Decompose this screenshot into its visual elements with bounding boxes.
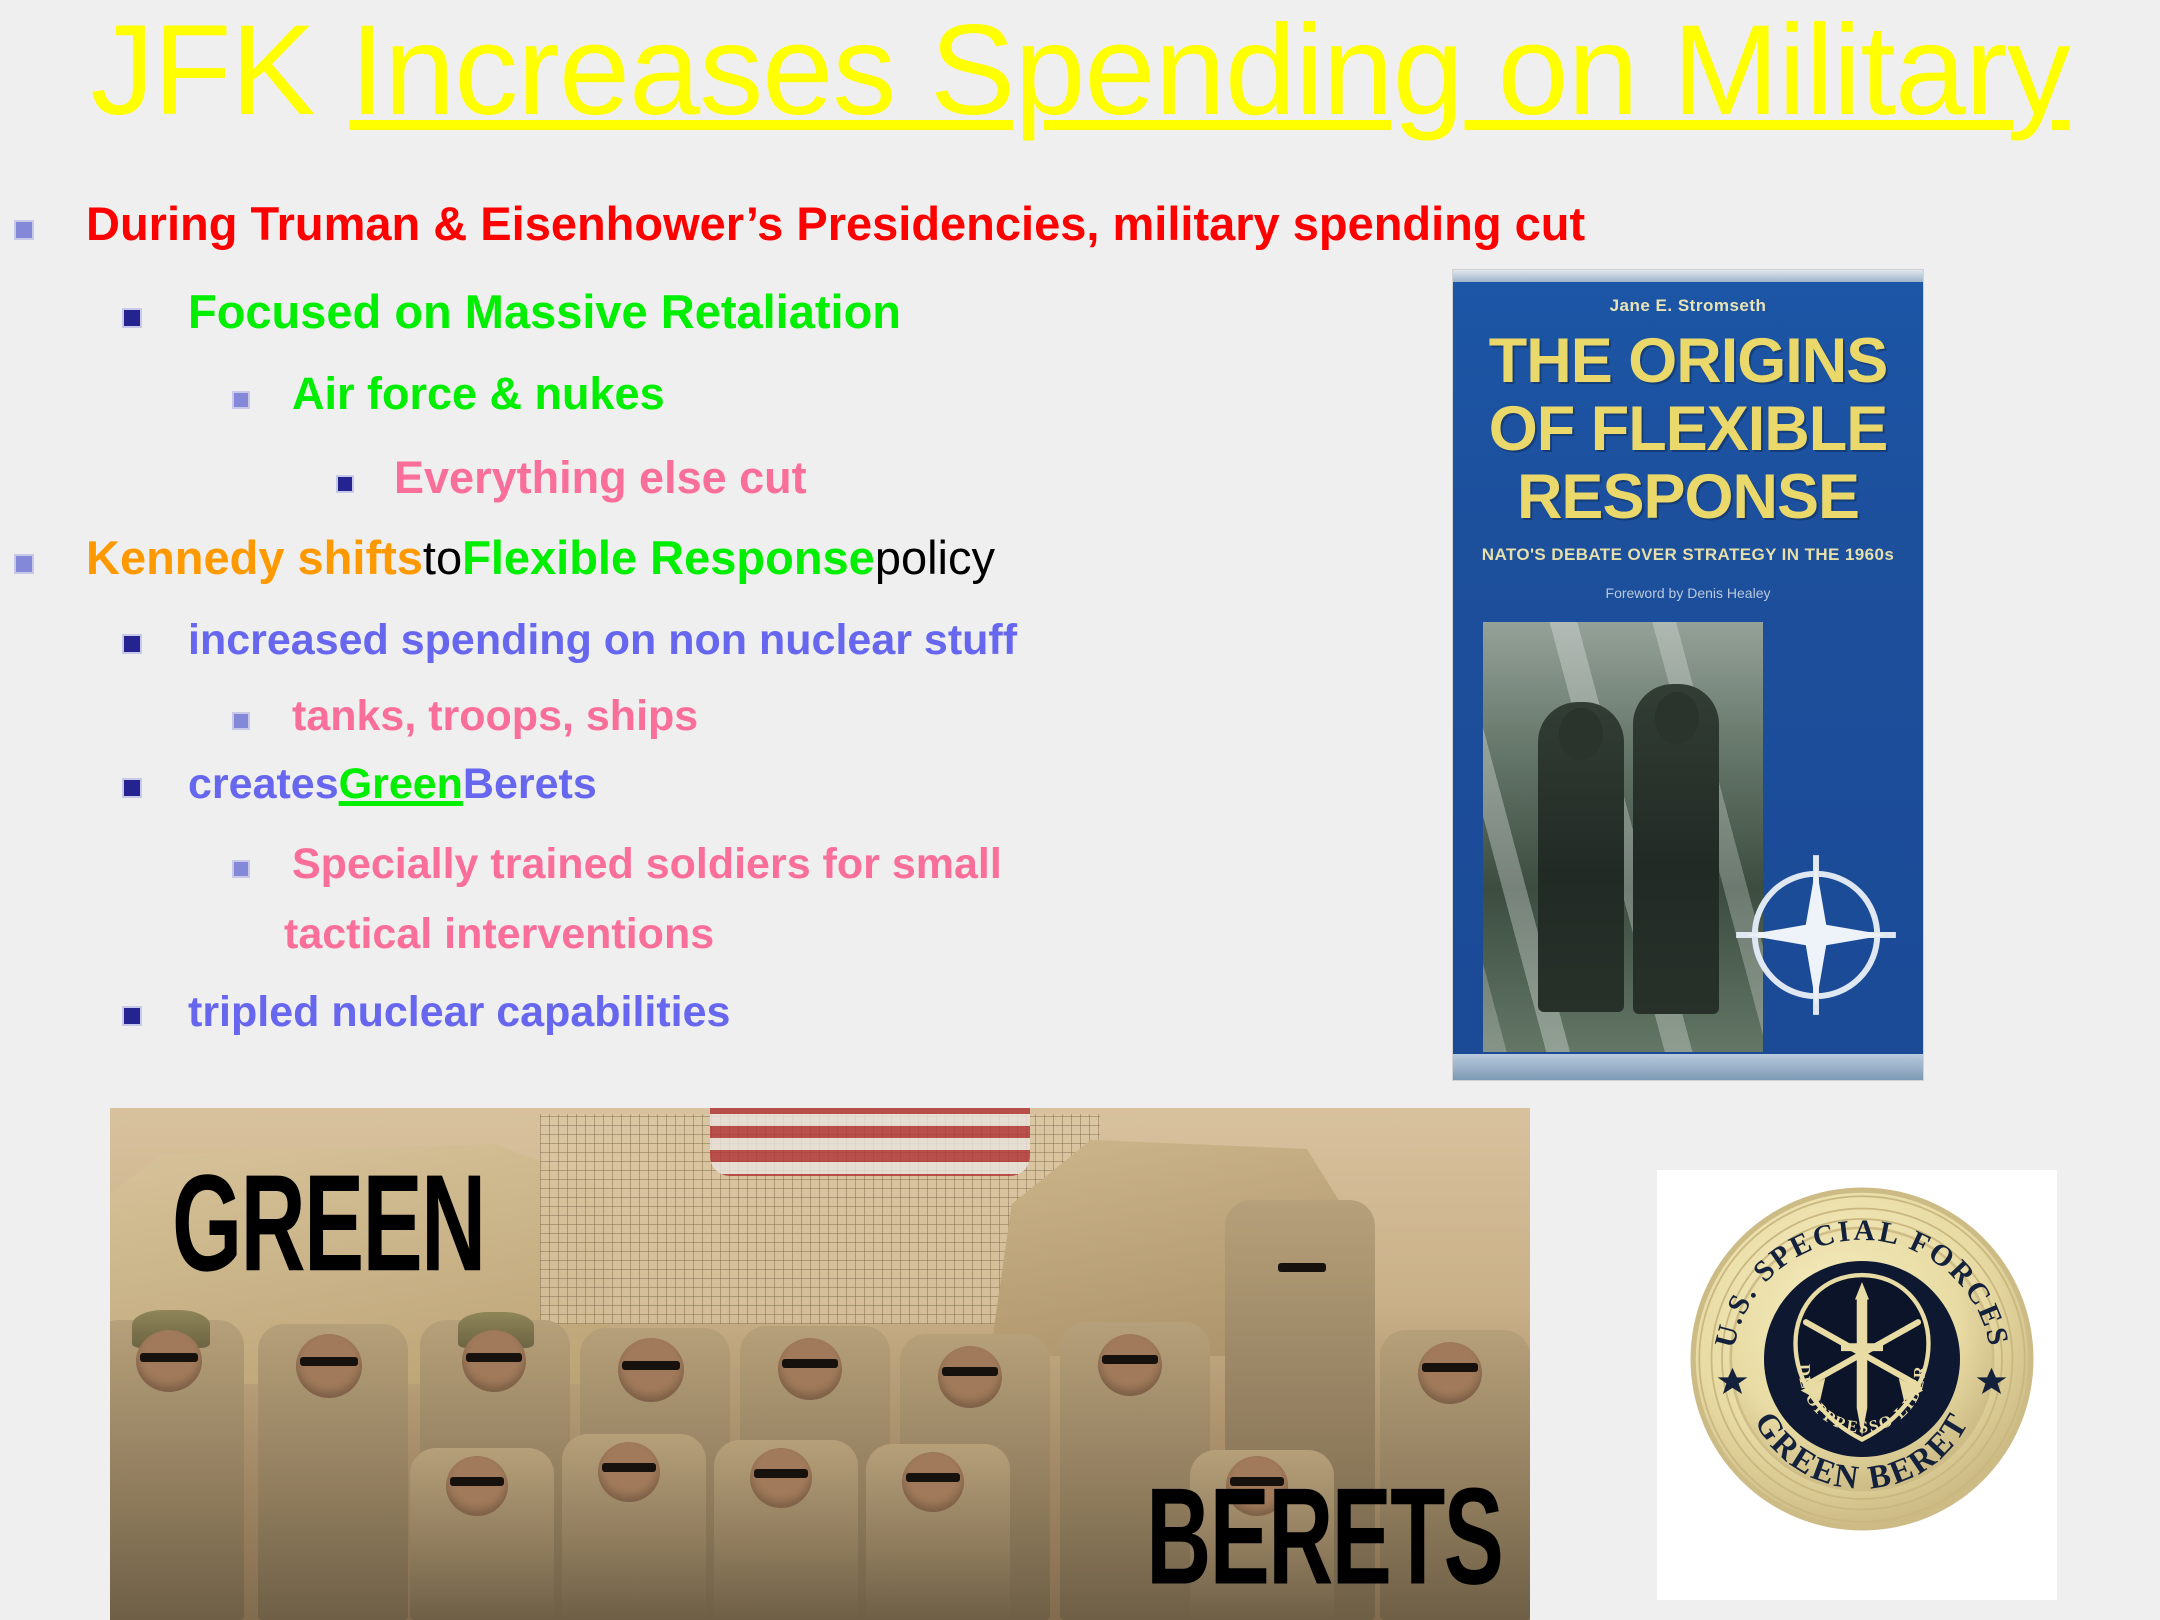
bullet-text: increased spending on non nuclear stuff <box>188 616 1017 665</box>
slide-canvas: JFK Increases Spending on Military Durin… <box>0 0 2160 1620</box>
bullet-level3-tanks-troops-ships: tanks, troops, ships <box>232 692 698 741</box>
bullet-text: tanks, troops, ships <box>292 692 698 741</box>
book-subtitle: NATO'S DEBATE OVER STRATEGY IN THE 1960s <box>1453 545 1923 565</box>
bullet-text: Focused on Massive Retaliation <box>188 284 901 339</box>
book-bottom-edge <box>1453 1054 1923 1080</box>
square-bullet-icon <box>122 308 142 328</box>
square-bullet-icon <box>14 220 34 240</box>
square-bullet-icon <box>122 778 142 798</box>
square-bullet-icon <box>14 554 34 574</box>
bullet-level2-massive-retaliation: Focused on Massive Retaliation <box>122 284 901 339</box>
square-bullet-icon <box>336 475 354 493</box>
square-bullet-icon <box>122 1006 142 1026</box>
nato-compass-star-icon <box>1731 850 1901 1020</box>
square-bullet-icon <box>232 712 250 730</box>
photo-overlay-berets: BERETS <box>1146 1457 1502 1616</box>
square-bullet-icon <box>232 860 250 878</box>
bullet-text: Specially trained soldiers for small <box>292 840 1002 889</box>
bullet-text: Air force & nukes <box>292 368 665 420</box>
bullet-text: During Truman & Eisenhower’s Presidencie… <box>86 196 1585 251</box>
title-underlined: Increases Spending on Military <box>349 0 2069 142</box>
bullet-level2-creates-green-berets: creates Green Berets <box>122 760 597 809</box>
page-title: JFK Increases Spending on Military <box>0 6 2160 137</box>
special-forces-seal-container: U.S. SPECIAL FORCES GREEN BERET <box>1657 1170 2057 1600</box>
book-title-line2: OF FLEXIBLE <box>1453 398 1923 461</box>
bullet-run-to: to <box>423 530 462 585</box>
bullet-level3-specially-trained-line1: Specially trained soldiers for small <box>232 840 1002 889</box>
square-bullet-icon <box>122 634 142 654</box>
book-title-line3: RESPONSE <box>1453 466 1923 529</box>
bullet-text-wrap: tactical interventions <box>284 910 714 959</box>
square-bullet-icon <box>232 391 250 409</box>
photo-overlay-green: GREEN <box>172 1144 485 1303</box>
book-cover-image: Jane E. Stromseth THE ORIGINS OF FLEXIBL… <box>1453 270 1923 1080</box>
photo-head-left <box>1559 708 1603 760</box>
book-top-edge <box>1453 270 1923 282</box>
bullet-run-creates: creates <box>188 760 339 809</box>
book-cover-photograph <box>1483 622 1763 1052</box>
bullet-run-policy: policy <box>875 530 995 585</box>
bullet-text: Everything else cut <box>394 452 807 504</box>
green-berets-photo: GREEN BERETS <box>110 1108 1530 1620</box>
bullet-run-green: Green <box>339 760 463 809</box>
bullet-run-berets: Berets <box>463 760 597 809</box>
bullet-level3-specially-trained-line2: tactical interventions <box>284 910 714 959</box>
us-flag <box>710 1108 1030 1176</box>
bullet-level3-air-force-nukes: Air force & nukes <box>232 368 665 420</box>
bullet-level2-increased-spending: increased spending on non nuclear stuff <box>122 616 1017 665</box>
bullet-text: tripled nuclear capabilities <box>188 988 730 1037</box>
bullet-level4-everything-else-cut: Everything else cut <box>336 452 807 504</box>
bullet-level1-flexible-response: Kennedy shifts to Flexible Response poli… <box>14 530 995 585</box>
photo-head-right <box>1655 692 1699 744</box>
us-special-forces-green-beret-seal: U.S. SPECIAL FORCES GREEN BERET <box>1687 1184 2037 1534</box>
title-lead: JFK <box>90 0 349 142</box>
bullet-level2-tripled-nuclear: tripled nuclear capabilities <box>122 988 730 1037</box>
bullet-level1-truman-eisenhower: During Truman & Eisenhower’s Presidencie… <box>14 196 1585 251</box>
bullet-run-kennedy-shifts: Kennedy shifts <box>86 530 423 585</box>
book-foreword: Foreword by Denis Healey <box>1453 585 1923 601</box>
book-title-line1: THE ORIGINS <box>1453 330 1923 393</box>
book-author: Jane E. Stromseth <box>1453 296 1923 316</box>
bullet-run-flexible-response: Flexible Response <box>462 530 875 585</box>
